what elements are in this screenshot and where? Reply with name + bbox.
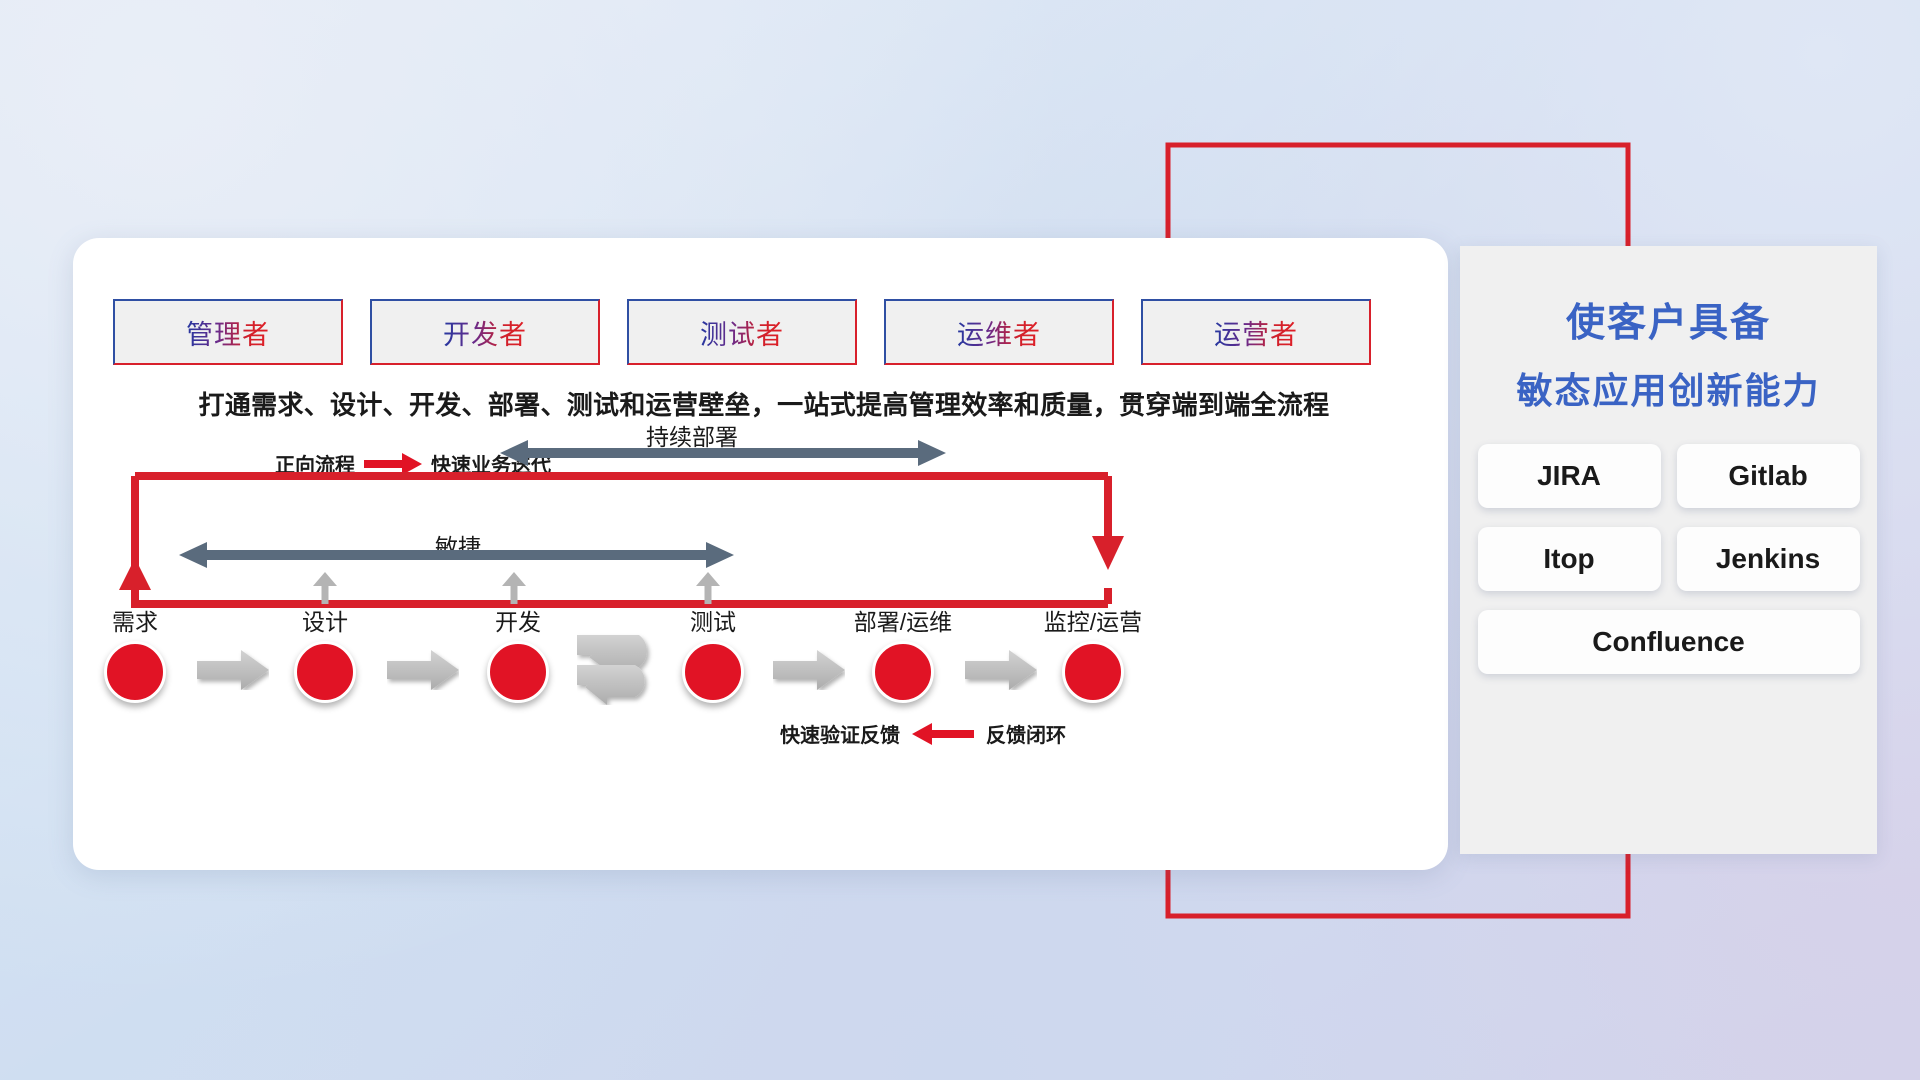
- tool-badge-gitlab[interactable]: Gitlab: [1677, 444, 1860, 508]
- panel-title-line-1: 使客户具备: [1460, 292, 1877, 348]
- pipeline-node-dot: [487, 641, 549, 703]
- tool-badge-jenkins[interactable]: Jenkins: [1677, 527, 1860, 591]
- pipeline-node-dot: [294, 641, 356, 703]
- right-arrow-icon-3: [773, 650, 845, 690]
- pipeline-node-develop[interactable]: 开发: [458, 611, 578, 703]
- panel-title-line-2: 敏态应用创新能力: [1460, 362, 1877, 414]
- pipeline-node-design[interactable]: 设计: [265, 611, 385, 703]
- main-diagram-card: 管理者 开发者 测试者 运维者 运营者 打通需求、设计、开发、部署、测试和运营壁…: [73, 238, 1448, 870]
- tool-badge-label: Jenkins: [1716, 543, 1820, 575]
- pipeline-node-dot: [872, 641, 934, 703]
- pipeline-node-requirement[interactable]: 需求: [75, 611, 195, 703]
- pipeline-node-label: 监控/运营: [1033, 611, 1153, 634]
- pipeline-node-label: 需求: [75, 611, 195, 634]
- pipeline-node-deploy-ops[interactable]: 部署/运维: [843, 611, 963, 703]
- right-arrow-icon-2: [387, 650, 459, 690]
- pipeline-node-dot: [1062, 641, 1124, 703]
- tool-badge-label: Confluence: [1592, 626, 1744, 658]
- pipeline-node-label: 部署/运维: [843, 611, 963, 634]
- tool-badge-jira[interactable]: JIRA: [1478, 444, 1661, 508]
- tool-badge-itop[interactable]: Itop: [1478, 527, 1661, 591]
- pipeline-node-dot: [104, 641, 166, 703]
- pipeline-row: 需求 设计 开发 测试: [73, 238, 1448, 870]
- pipeline-node-dot: [682, 641, 744, 703]
- tool-badge-label: JIRA: [1537, 460, 1601, 492]
- tool-badge-label: Itop: [1543, 543, 1594, 575]
- tool-badges-grid: JIRA Gitlab Itop Jenkins Confluence: [1460, 444, 1877, 674]
- pipeline-node-test[interactable]: 测试: [653, 611, 773, 703]
- tool-badge-confluence[interactable]: Confluence: [1478, 610, 1860, 674]
- right-arrow-icon-4: [965, 650, 1037, 690]
- pipeline-node-label: 开发: [458, 611, 578, 634]
- right-arrow-icon-1: [197, 650, 269, 690]
- pipeline-node-monitor-operate[interactable]: 监控/运营: [1033, 611, 1153, 703]
- capability-panel: 使客户具备 敏态应用创新能力 JIRA Gitlab Itop Jenkins …: [1460, 246, 1877, 854]
- tool-badge-label: Gitlab: [1728, 460, 1807, 492]
- pipeline-node-label: 设计: [265, 611, 385, 634]
- pipeline-node-label: 测试: [653, 611, 773, 634]
